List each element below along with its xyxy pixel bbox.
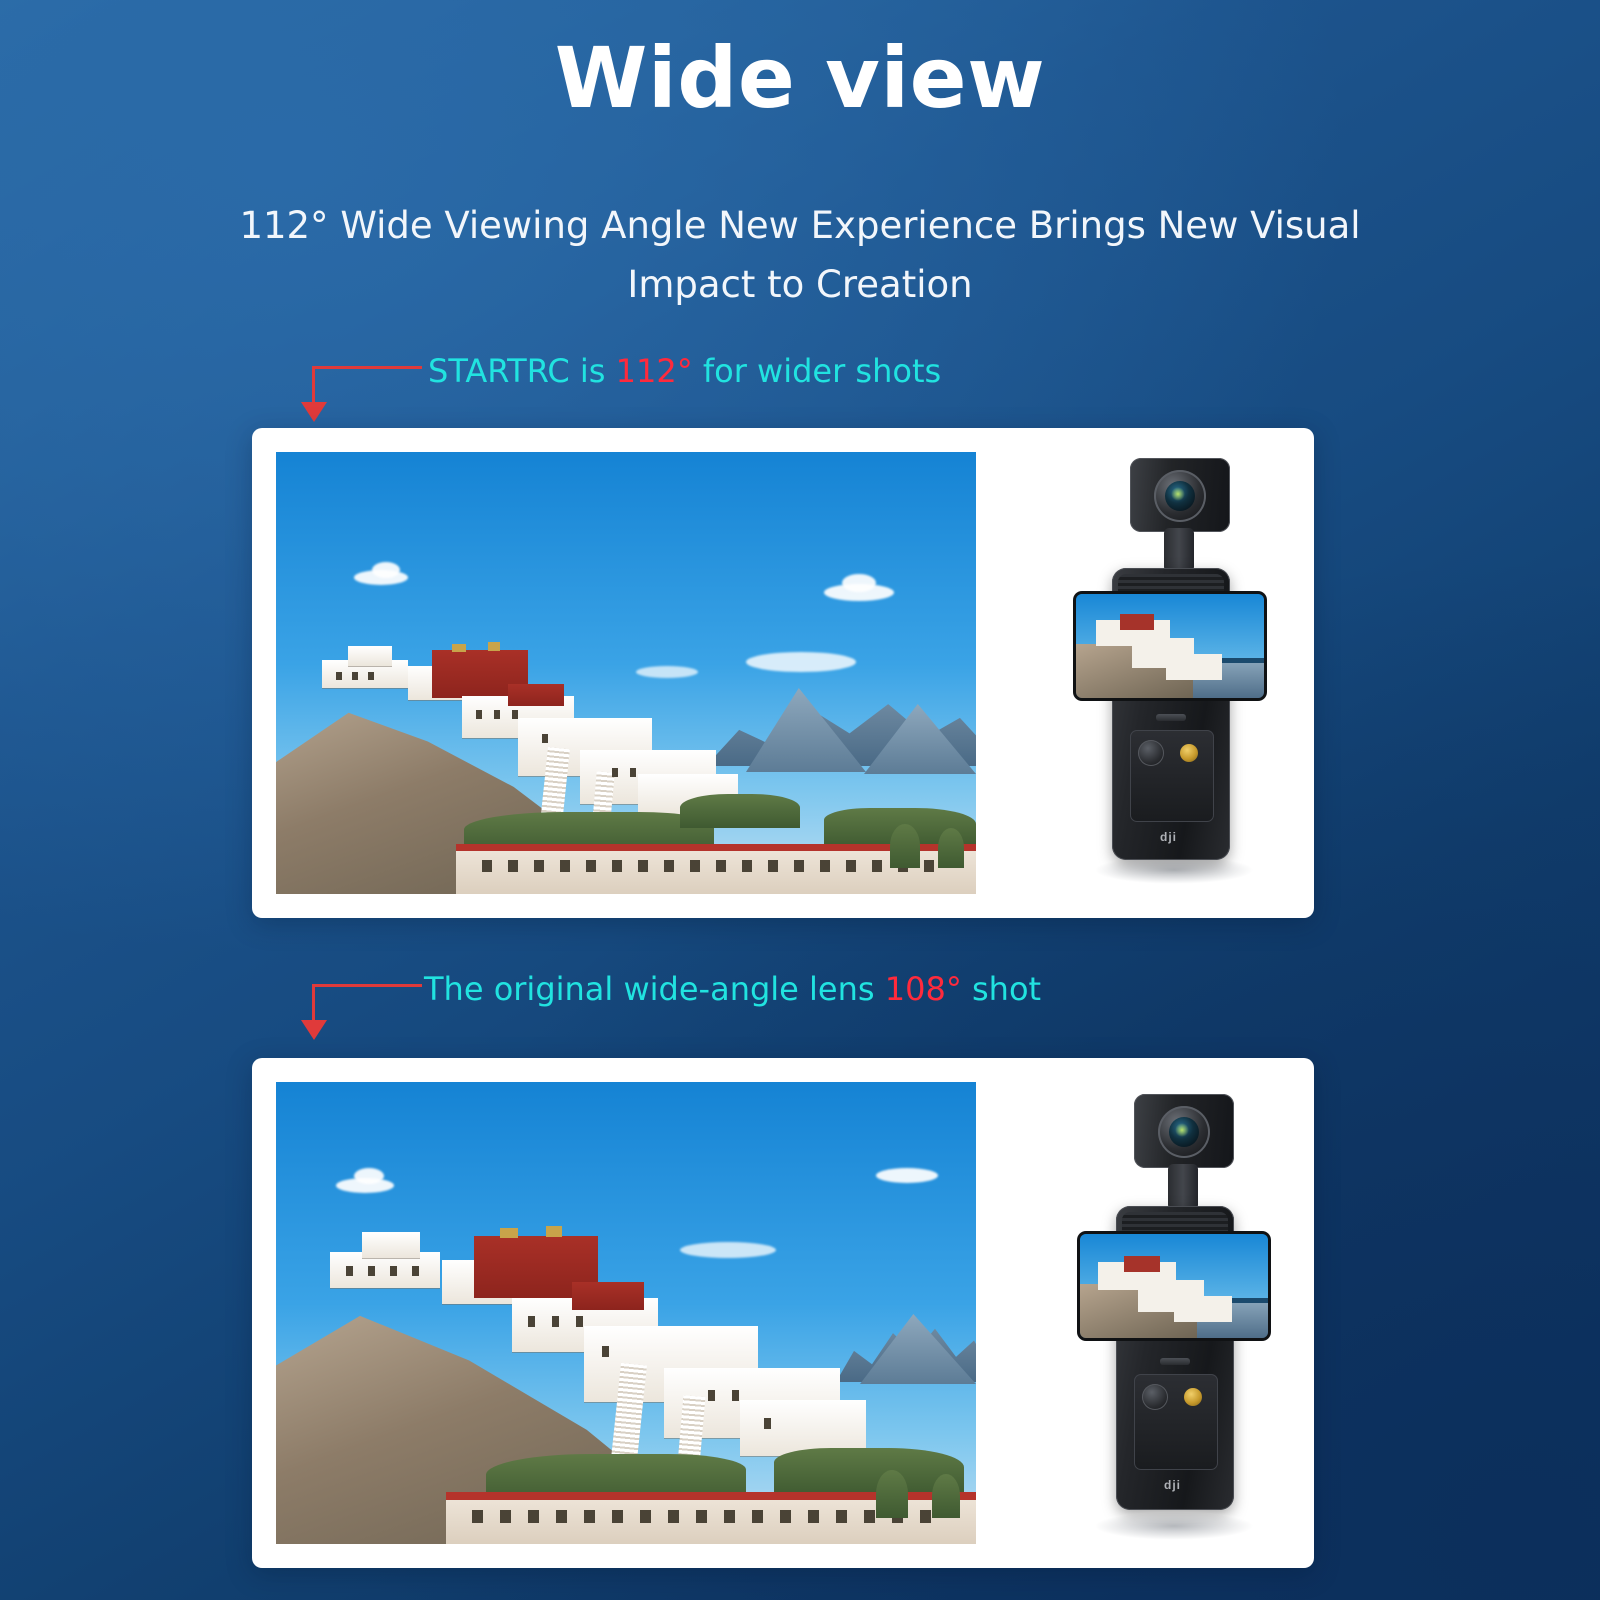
callout-2-prefix: The original wide-angle lens (424, 970, 885, 1008)
callout-wide-112: STARTRC is 112° for wider shots (428, 352, 941, 390)
down-arrow-icon-1 (312, 366, 422, 426)
page-title: Wide view (0, 34, 1600, 122)
osmo-pocket-camera-2: OSMO dji (1052, 1086, 1282, 1548)
callout-2-highlight: 108° (885, 970, 962, 1008)
callout-1-suffix: for wider shots (693, 352, 941, 390)
down-arrow-icon-2 (312, 984, 422, 1044)
comparison-panel-wide: OSMO dji (252, 428, 1314, 918)
callout-1-prefix: STARTRC is (428, 352, 616, 390)
camera-screen-2 (1080, 1234, 1268, 1338)
dji-logo-2: dji (1164, 1478, 1181, 1492)
callout-1-highlight: 112° (616, 352, 693, 390)
dji-logo-1: dji (1160, 830, 1177, 844)
photo-wide-112 (276, 452, 976, 894)
osmo-pocket-camera-1: OSMO dji (1052, 452, 1282, 894)
callout-2-suffix: shot (962, 970, 1041, 1008)
promo-page: Wide view 112° Wide Viewing Angle New Ex… (0, 0, 1600, 1600)
camera-screen-1 (1076, 594, 1264, 698)
gimbal-head-2 (1134, 1094, 1234, 1168)
comparison-panel-original: OSMO dji (252, 1058, 1314, 1568)
photo-original-108 (276, 1082, 976, 1544)
callout-original-108: The original wide-angle lens 108° shot (424, 970, 1041, 1008)
page-subtitle: 112° Wide Viewing Angle New Experience B… (180, 196, 1420, 314)
gimbal-head-1 (1130, 458, 1230, 532)
